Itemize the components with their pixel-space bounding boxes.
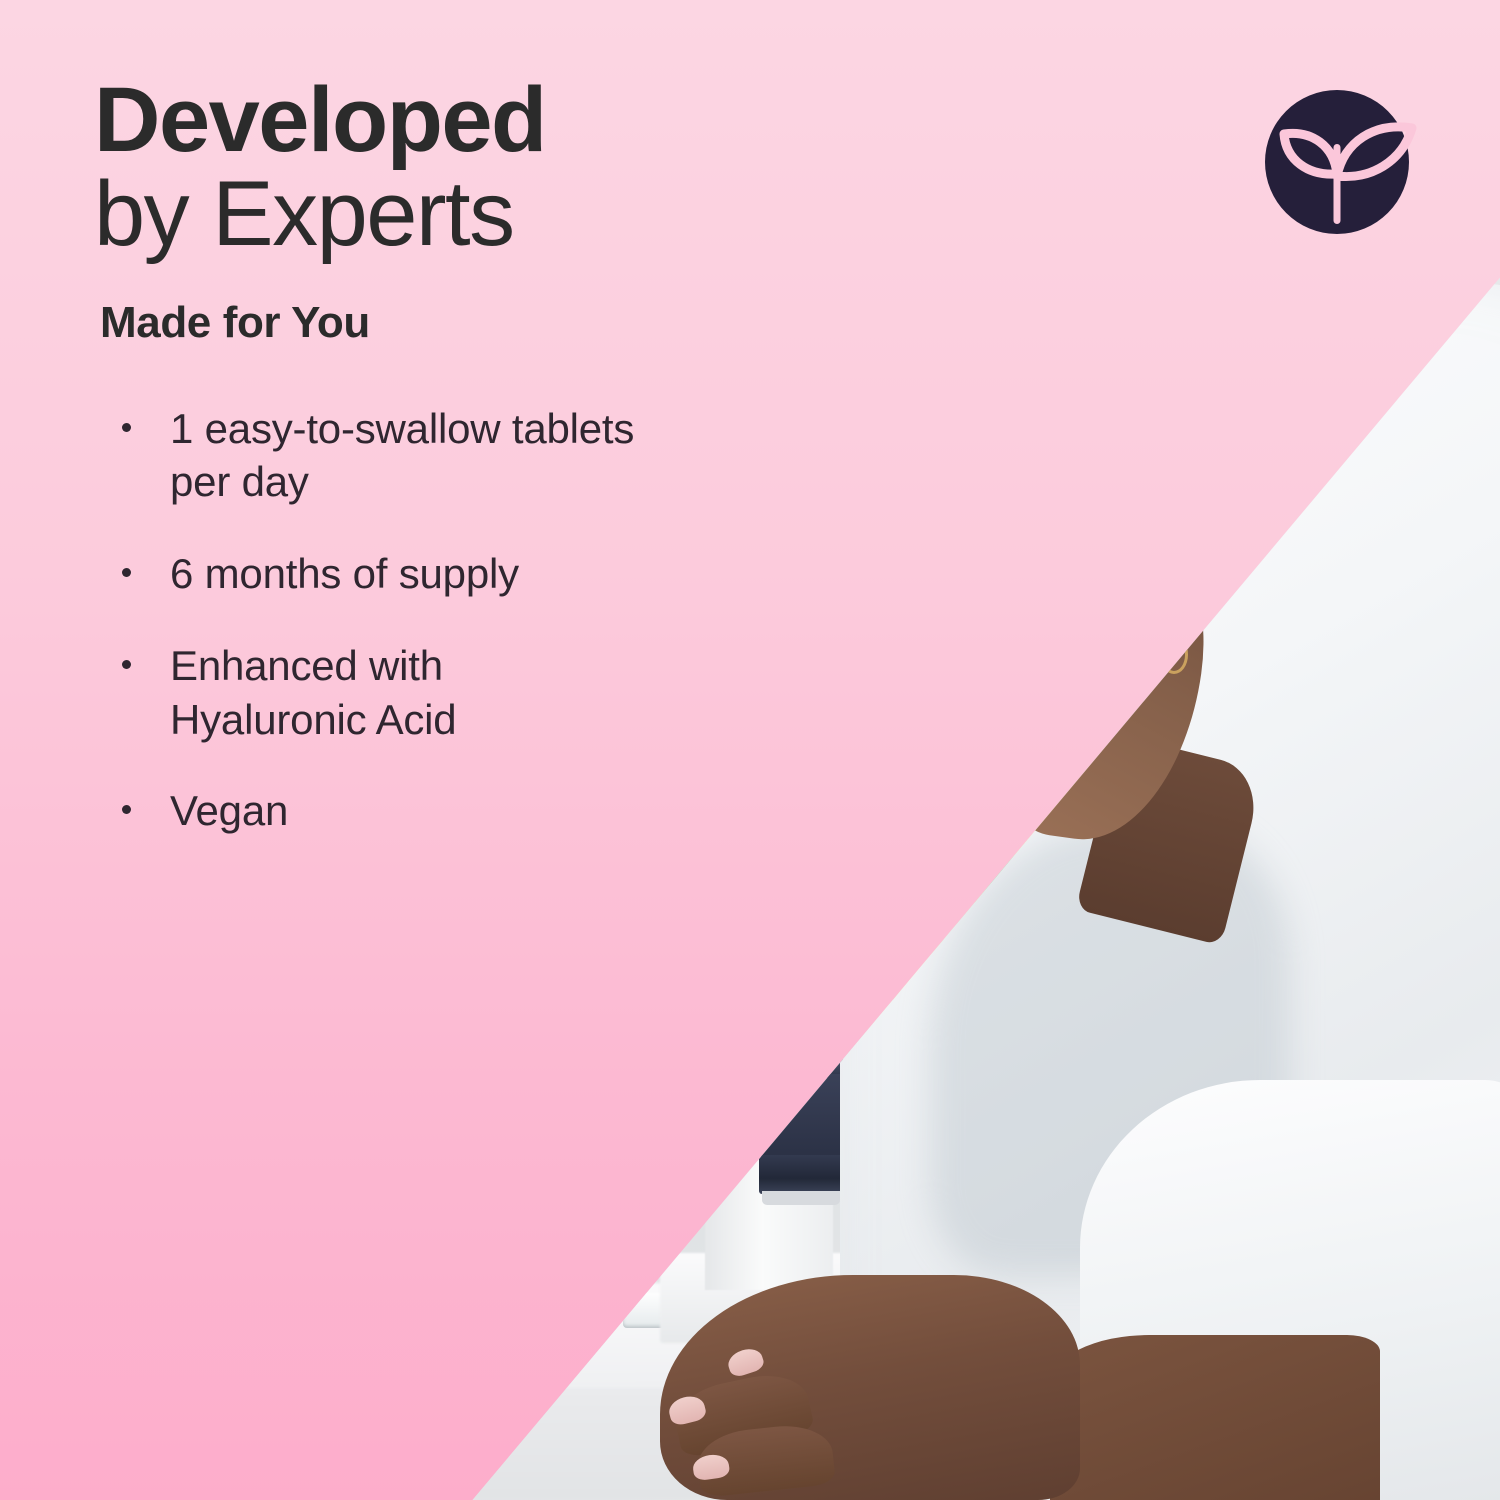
brand-logo: [1262, 84, 1418, 240]
list-item-label: Enhanced with Hyaluronic Acid: [170, 642, 456, 743]
list-item-label: 1 easy-to-swallow tablets per day: [170, 405, 634, 506]
promo-banner: Developed by Experts Made for You 1 easy…: [0, 0, 1500, 1500]
wrist: [1050, 1335, 1380, 1500]
list-item-label: 6 months of supply: [170, 550, 519, 597]
list-item: 6 months of supply: [112, 547, 640, 601]
text-column: Developed by Experts Made for You 1 easy…: [94, 74, 714, 876]
headline-line-1: Developed: [94, 74, 714, 168]
list-item: 1 easy-to-swallow tablets per day: [112, 402, 640, 510]
list-item: Vegan: [112, 784, 640, 838]
subheadline: Made for You: [100, 298, 714, 348]
feature-list: 1 easy-to-swallow tablets per day 6 mont…: [112, 402, 714, 839]
headline-line-2: by Experts: [94, 168, 714, 262]
bullet-dot-icon: [122, 568, 131, 577]
bullet-dot-icon: [122, 660, 131, 669]
list-item-label: Vegan: [170, 787, 288, 834]
bullet-dot-icon: [122, 423, 131, 432]
bullet-dot-icon: [122, 805, 131, 814]
sprout-leaf-badge-icon: [1262, 84, 1418, 240]
list-item: Enhanced with Hyaluronic Acid: [112, 639, 640, 747]
page-title: Developed by Experts: [94, 74, 714, 262]
